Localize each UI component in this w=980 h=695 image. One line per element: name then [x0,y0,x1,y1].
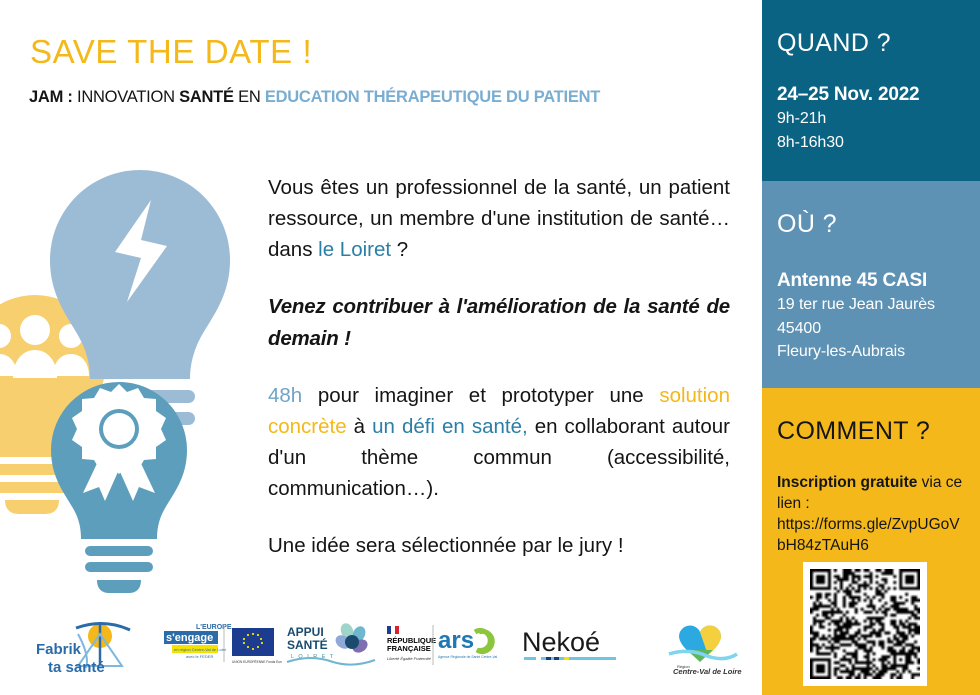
venue-name: Antenne 45 CASI [777,269,980,293]
svg-text:Fabrik: Fabrik [36,641,82,658]
p1-link-loiret: le Loiret [318,238,391,261]
venue-postcode: 45400 [777,318,980,340]
svg-text:s'engage: s'engage [166,632,213,644]
p3-defi: un défi en santé, [372,415,528,438]
venue-street: 19 ter rue Jean Jaurès [777,294,980,316]
subtitle-innovation: INNOVATION [73,88,179,106]
svg-text:ars: ars [438,627,474,654]
registration-url[interactable]: https://forms.gle/ZvpUGoVbH84zTAuH6 [777,516,960,554]
paragraph-1: Vous êtes un professionnel de la santé, … [268,172,730,265]
registration-info: Inscription gratuite via ce lien : https… [777,472,967,556]
svg-text:L'EUROPE: L'EUROPE [196,624,232,631]
lightbulb-illustration [0,140,245,600]
logo-region-centre-val-de-loire: Région Centre-Val de Loire [655,618,747,676]
page-title: SAVE THE DATE ! [30,33,312,71]
venue-city: Fleury-les-Aubrais [777,341,980,363]
logo-fabrik-ta-sante: Fabrik ta santé [34,614,154,676]
paragraph-4: Une idée sera sélectionnée par le jury ! [268,530,730,561]
panel-ou: OÙ ? Antenne 45 CASI 19 ter rue Jean Jau… [762,181,980,388]
svg-text:SANTÉ: SANTÉ [287,637,328,652]
svg-text:en région Centre-Val de Loire: en région Centre-Val de Loire [174,647,227,652]
svg-text:APPUI: APPUI [287,625,324,639]
p3-duration: 48h [268,384,302,407]
svg-text:FRANÇAISE: FRANÇAISE [387,644,431,653]
panel-quand: QUAND ? 24–25 Nov. 2022 9h-21h 8h-16h30 [762,0,980,181]
p3-part-b: à [347,415,372,438]
p1-part-b: ? [391,238,408,261]
svg-text:avec le FEDER: avec le FEDER [186,654,213,659]
svg-text:Centre-Val de Loire: Centre-Val de Loire [673,667,742,676]
subtitle: JAM : INNOVATION SANTÉ EN EDUCATION THÉR… [29,88,600,107]
event-time-day2: 8h-16h30 [777,132,980,154]
logo-appui-sante-loiret: APPUI SANTÉ L O I R E T [285,620,377,670]
bulb-blue [51,382,187,593]
panel-quand-title: QUAND ? [777,30,980,58]
p3-part-a: pour imaginer et prototyper une [302,384,659,407]
paragraph-2: Venez contribuer à l'amélioration de la … [268,291,730,353]
svg-text:ta santé: ta santé [48,659,105,676]
svg-text:UNION EUROPÉENNE Fonds Europée: UNION EUROPÉENNE Fonds Européen de Dével… [232,659,282,664]
subtitle-jam: JAM : [29,88,73,106]
event-dates: 24–25 Nov. 2022 [777,83,980,107]
panel-comment-title: COMMENT ? [777,418,980,446]
logo-republique-francaise-ars: RÉPUBLIQUE FRANÇAISE Liberté Égalité Fra… [383,620,498,670]
svg-text:Agence Régionale de Santé Cent: Agence Régionale de Santé Centre-Val de … [438,655,498,659]
logo-leurope-sengage: L'EUROPE s'engage en région Centre-Val d… [162,618,282,672]
event-time-day1: 9h-21h [777,108,980,130]
body-text: Vous êtes un professionnel de la santé, … [268,172,730,562]
registration-bold: Inscription gratuite [777,474,917,491]
panel-ou-title: OÙ ? [777,211,980,239]
logo-nekoe: Nekoé [520,626,625,666]
partner-logos: Fabrik ta santé L'EUROPE s'engage en rég… [0,606,762,684]
subtitle-en: EN [234,88,265,106]
qr-code[interactable] [803,562,927,686]
svg-text:Nekoé: Nekoé [522,627,600,657]
paragraph-3: 48h pour imaginer et prototyper une solu… [268,380,730,505]
svg-text:Liberté Égalité Fraternité: Liberté Égalité Fraternité [387,656,432,661]
qr-code-canvas [810,569,920,679]
subtitle-education: EDUCATION THÉRAPEUTIQUE DU PATIENT [265,88,600,106]
subtitle-sante: SANTÉ [179,88,234,106]
